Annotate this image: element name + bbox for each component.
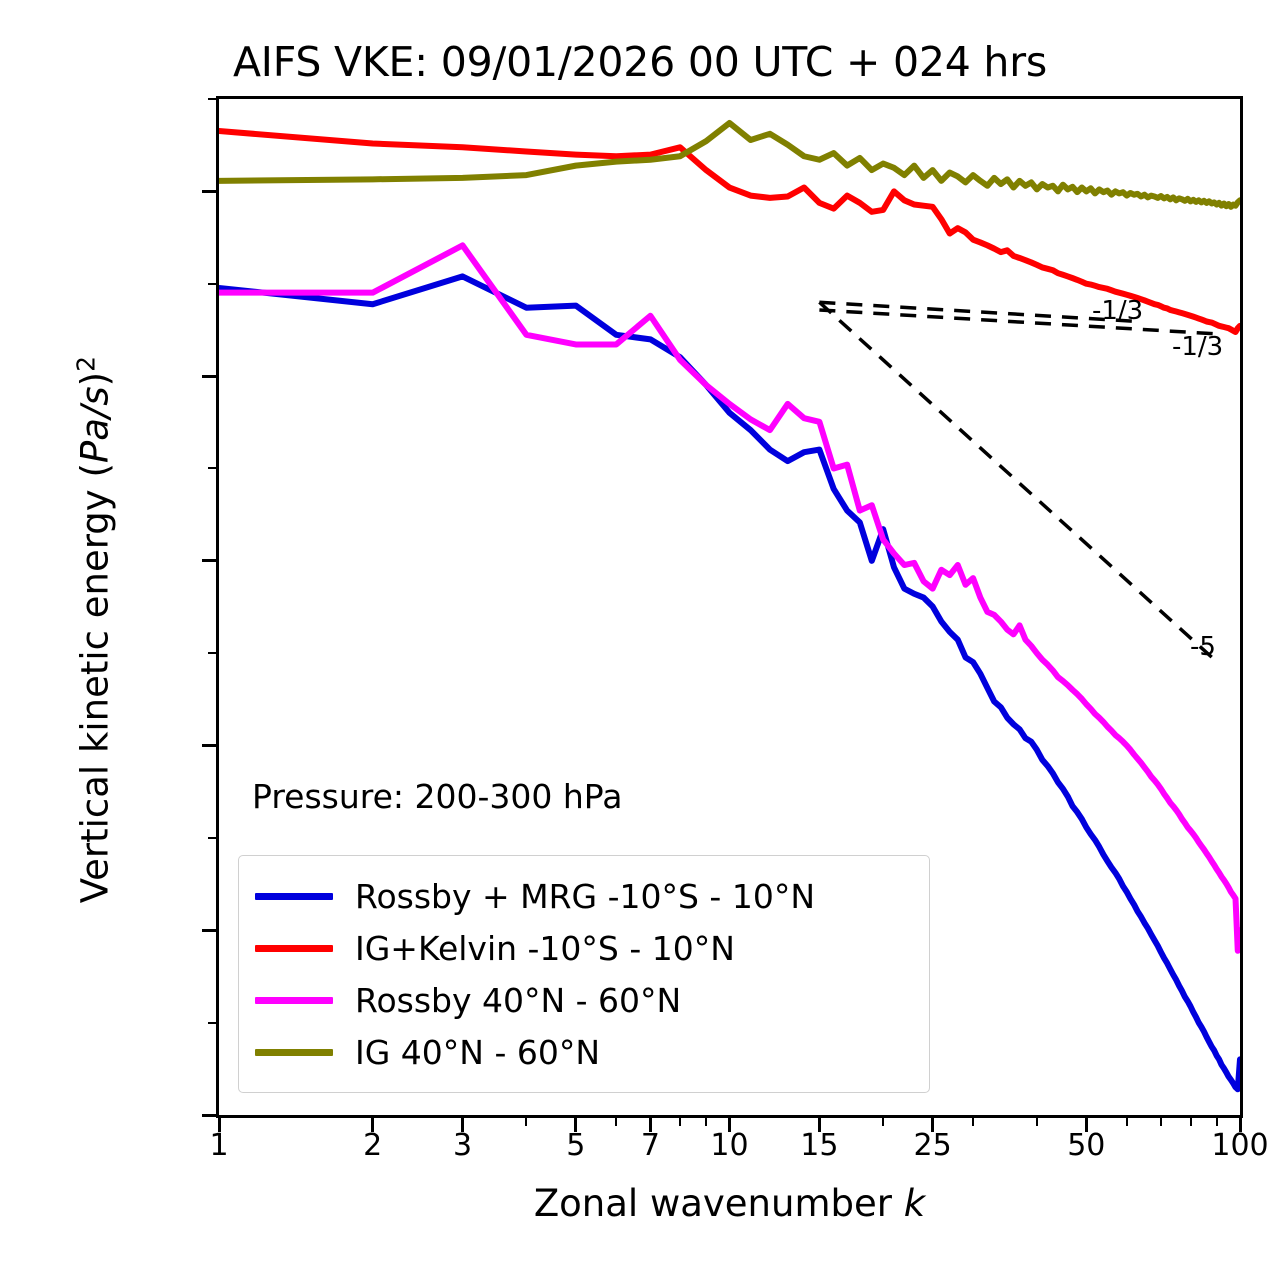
reference-line-minus-one-third-upper (819, 302, 1134, 321)
legend-color-swatch (255, 945, 333, 952)
x-minor-tick-mark (1216, 1118, 1218, 1126)
x-tick-mark (371, 1118, 374, 1132)
y-tick-mark (202, 1114, 216, 1117)
x-axis-label: Zonal wavenumber k (216, 1182, 1243, 1225)
slope-label-minus-five: -5 (1190, 632, 1216, 662)
x-tick-mark (218, 1118, 221, 1132)
x-tick-label: 3 (453, 1128, 472, 1163)
y-tick-mark (202, 744, 216, 747)
legend-label: IG 40°N - 60°N (355, 1033, 600, 1072)
y-axis-label: Vertical kinetic energy (Pa/s)2 (71, 250, 116, 1010)
y-minor-tick-mark (208, 1022, 216, 1024)
slope-label-lower-third: -1/3 (1172, 332, 1223, 362)
series-line-2 (219, 245, 1240, 950)
legend-label: Rossby 40°N - 60°N (355, 981, 681, 1020)
x-tick-mark (1239, 1118, 1242, 1132)
figure-canvas: AIFS VKE: 09/01/2026 00 UTC + 024 hrs 10… (0, 0, 1280, 1288)
legend-color-swatch (255, 1049, 333, 1056)
y-minor-tick-mark (208, 98, 216, 100)
y-minor-tick-mark (208, 652, 216, 654)
legend-entry[interactable]: Rossby 40°N - 60°N (255, 974, 913, 1026)
x-tick-label: 15 (800, 1128, 838, 1163)
x-tick-mark (1085, 1118, 1088, 1132)
x-tick-mark (461, 1118, 464, 1132)
x-minor-tick-mark (1190, 1118, 1192, 1126)
y-minor-tick-mark (208, 283, 216, 285)
legend: Rossby + MRG -10°S - 10°NIG+Kelvin -10°S… (238, 855, 930, 1093)
y-tick-mark (202, 375, 216, 378)
x-minor-tick-mark (1126, 1118, 1128, 1126)
y-axis-label-prefix: Vertical kinetic energy ( (74, 463, 117, 903)
legend-entry[interactable]: IG+Kelvin -10°S - 10°N (255, 922, 913, 974)
reference-line-minus-five (819, 302, 1211, 657)
x-minor-tick-mark (525, 1118, 527, 1126)
legend-label: Rossby + MRG -10°S - 10°N (355, 877, 815, 916)
x-tick-label: 50 (1067, 1128, 1105, 1163)
x-tick-mark (649, 1118, 652, 1132)
legend-color-swatch (255, 893, 333, 900)
x-tick-mark (931, 1118, 934, 1132)
y-minor-tick-mark (208, 467, 216, 469)
y-tick-mark (202, 929, 216, 932)
x-tick-label: 7 (641, 1128, 660, 1163)
x-tick-mark (574, 1118, 577, 1132)
y-tick-mark (202, 190, 216, 193)
x-axis-tick-labels: 1235710152550100 (0, 1128, 1280, 1188)
y-minor-tick-mark (208, 837, 216, 839)
x-tick-mark (818, 1118, 821, 1132)
x-tick-label: 5 (566, 1128, 585, 1163)
legend-entry[interactable]: Rossby + MRG -10°S - 10°N (255, 870, 913, 922)
legend-entry[interactable]: IG 40°N - 60°N (255, 1026, 913, 1078)
y-axis-label-units: Pa/s (74, 386, 117, 463)
x-minor-tick-mark (615, 1118, 617, 1126)
x-tick-label: 10 (710, 1128, 748, 1163)
x-minor-tick-mark (882, 1118, 884, 1126)
x-minor-tick-mark (679, 1118, 681, 1126)
x-axis-label-prefix: Zonal wavenumber (534, 1182, 904, 1225)
x-tick-label: 2 (363, 1128, 382, 1163)
y-axis-label-suffix: ) (74, 372, 117, 386)
series-line-3 (219, 123, 1240, 207)
y-axis-label-exponent: 2 (71, 356, 100, 372)
x-tick-label: 25 (914, 1128, 952, 1163)
x-tick-mark (728, 1118, 731, 1132)
legend-label: IG+Kelvin -10°S - 10°N (355, 929, 735, 968)
legend-color-swatch (255, 997, 333, 1004)
x-minor-tick-mark (705, 1118, 707, 1126)
pressure-annotation: Pressure: 200-300 hPa (252, 777, 622, 816)
slope-label-upper-third: -1/3 (1092, 296, 1143, 326)
x-tick-label: 100 (1211, 1128, 1268, 1163)
x-minor-tick-mark (972, 1118, 974, 1126)
x-tick-label: 1 (209, 1128, 228, 1163)
x-minor-tick-mark (1160, 1118, 1162, 1126)
y-tick-mark (202, 559, 216, 562)
x-axis-label-symbol: k (904, 1182, 925, 1225)
x-minor-tick-mark (1036, 1118, 1038, 1126)
